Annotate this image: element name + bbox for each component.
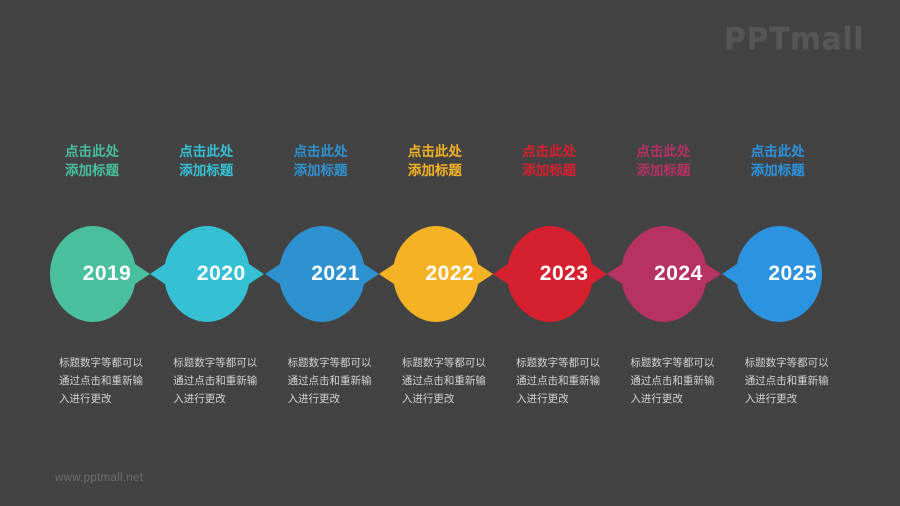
timeline-column[interactable]: 点击此处 添加标题 2024 标题数字等都可以 通过点击和重新输 入进行更改 (621, 142, 735, 422)
bubble-path-3 (379, 226, 493, 322)
year-shape-wrap[interactable]: 2021 (279, 226, 393, 322)
timeline-column[interactable]: 点击此处 添加标题 2023 标题数字等都可以 通过点击和重新输 入进行更改 (507, 142, 621, 422)
column-title[interactable]: 点击此处 添加标题 (751, 142, 805, 200)
column-title[interactable]: 点击此处 添加标题 (408, 142, 462, 200)
column-title[interactable]: 点击此处 添加标题 (65, 142, 119, 200)
bubble-path-2 (265, 226, 379, 322)
timeline-chain: 点击此处 添加标题 2019 标题数字等都可以 通过点击和重新输 入进行更改 点… (50, 142, 850, 422)
bubble-path-4 (493, 226, 607, 322)
column-title[interactable]: 点击此处 添加标题 (179, 142, 233, 200)
bubble-path-1 (150, 226, 264, 322)
column-body[interactable]: 标题数字等都可以 通过点击和重新输 入进行更改 (402, 354, 498, 408)
footer-url[interactable]: www.pptmall.net (55, 472, 143, 484)
pptmall-logo: PPTmall (724, 22, 864, 57)
bubble-path-6 (722, 226, 822, 322)
column-body[interactable]: 标题数字等都可以 通过点击和重新输 入进行更改 (173, 354, 269, 408)
year-shape-wrap[interactable]: 2024 (621, 226, 735, 322)
year-shape-wrap[interactable]: 2020 (164, 226, 278, 322)
timeline-column[interactable]: 点击此处 添加标题 2019 标题数字等都可以 通过点击和重新输 入进行更改 (50, 142, 164, 422)
column-title[interactable]: 点击此处 添加标题 (522, 142, 576, 200)
timeline-column[interactable]: 点击此处 添加标题 2020 标题数字等都可以 通过点击和重新输 入进行更改 (164, 142, 278, 422)
column-body[interactable]: 标题数字等都可以 通过点击和重新输 入进行更改 (630, 354, 726, 408)
column-title[interactable]: 点击此处 添加标题 (636, 142, 690, 200)
year-shape-wrap[interactable]: 2023 (507, 226, 621, 322)
year-shape-wrap[interactable]: 2022 (393, 226, 507, 322)
column-body[interactable]: 标题数字等都可以 通过点击和重新输 入进行更改 (745, 354, 841, 408)
year-shape-wrap[interactable]: 2025 (736, 226, 850, 322)
timeline-column[interactable]: 点击此处 添加标题 2021 标题数字等都可以 通过点击和重新输 入进行更改 (279, 142, 393, 422)
column-body[interactable]: 标题数字等都可以 通过点击和重新输 入进行更改 (516, 354, 612, 408)
year-shape-wrap[interactable]: 2019 (50, 226, 164, 322)
timeline-column[interactable]: 点击此处 添加标题 2022 标题数字等都可以 通过点击和重新输 入进行更改 (393, 142, 507, 422)
bubble-path-5 (607, 226, 721, 322)
column-body[interactable]: 标题数字等都可以 通过点击和重新输 入进行更改 (288, 354, 384, 408)
column-title[interactable]: 点击此处 添加标题 (294, 142, 348, 200)
bubble-path-0 (50, 226, 150, 322)
year-bubble-icon (722, 226, 865, 322)
timeline-column[interactable]: 点击此处 添加标题 2025 标题数字等都可以 通过点击和重新输 入进行更改 (736, 142, 850, 422)
column-body[interactable]: 标题数字等都可以 通过点击和重新输 入进行更改 (59, 354, 155, 408)
